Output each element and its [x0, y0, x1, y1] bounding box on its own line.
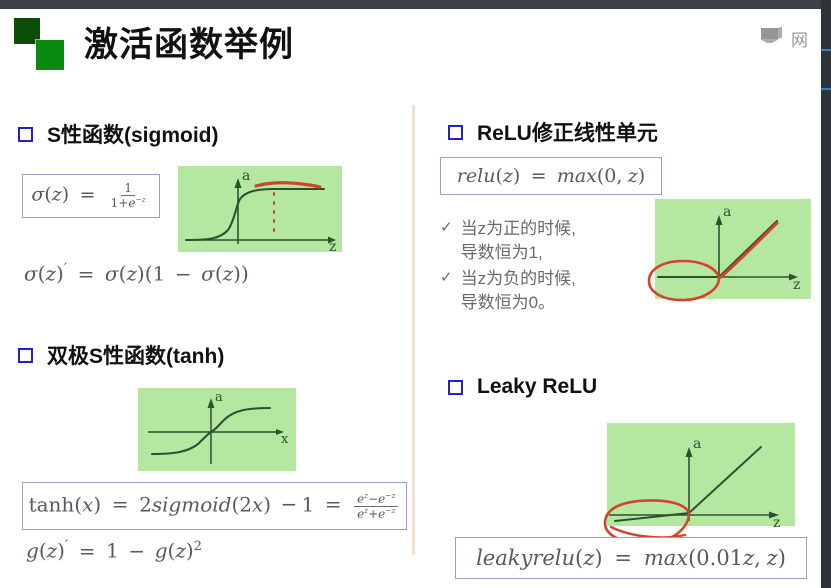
svg-text:a: a: [723, 204, 731, 220]
svg-text:a: a: [693, 436, 701, 452]
watermark: 网易: [759, 26, 807, 51]
check-icon: ✓: [440, 217, 453, 240]
svg-text:z: z: [329, 239, 336, 252]
leaky-relu-plot: a z: [607, 423, 795, 526]
leaky-relu-formula-text: leakyrelu(z) = max(0.01z, z): [476, 546, 786, 571]
section-heading-tanh: 双极S性函数(tanh): [18, 340, 224, 370]
relu-plot: a z: [655, 199, 811, 299]
check-icon: ✓: [440, 267, 453, 290]
sidebar-accent-marker-2: [821, 88, 831, 90]
page-title: 激活函数举例: [84, 17, 294, 66]
tanh-formula-text: tanh(x) = 2sigmoid(2x) −1 = ez−e−z ez+e−…: [29, 492, 401, 520]
svg-text:z: z: [793, 277, 800, 293]
list-item: ✓ 当z为正的时候, 导数恒为1,: [440, 217, 576, 265]
svg-text:z: z: [773, 515, 780, 531]
sigmoid-derivative-formula: σ(z)′ = σ(z)(1 − σ(z)): [24, 261, 249, 287]
column-divider: [412, 105, 415, 555]
slide-canvas: 激活函数举例 网易 S性函数(sigmoid) σ(z) = 1 1+e−z: [0, 9, 821, 588]
sidebar-accent-marker-1: [821, 49, 831, 51]
section-heading-leaky-relu: Leaky ReLU: [448, 375, 597, 399]
sigmoid-plot: a z: [178, 166, 342, 252]
sigmoid-formula-box: σ(z) = 1 1+e−z: [22, 174, 160, 218]
video-player-sidebar[interactable]: [821, 0, 831, 588]
relu-note-1: 当z为正的时候, 导数恒为1,: [461, 217, 576, 265]
relu-note-1-line2: 导数恒为1,: [461, 241, 576, 265]
relu-heading-label: ReLU修正线性单元: [477, 117, 658, 147]
square-bullet-icon: [448, 380, 463, 395]
tanh-derivative-formula: g(z)′ = 1 − g(z)2: [26, 538, 202, 564]
brand-logo: [14, 18, 68, 70]
watermark-text: 网易: [791, 26, 807, 51]
tanh-heading-label: 双极S性函数(tanh): [47, 340, 224, 370]
leaky-relu-formula-box: leakyrelu(z) = max(0.01z, z): [455, 537, 807, 579]
relu-note-1-line1: 当z为正的时候,: [461, 217, 576, 241]
list-item: ✓ 当z为负的时候, 导数恒为0。: [440, 267, 576, 315]
tanh-formula-box: tanh(x) = 2sigmoid(2x) −1 = ez−e−z ez+e−…: [22, 482, 407, 530]
tanh-plot: a x: [138, 388, 296, 471]
relu-notes-list: ✓ 当z为正的时候, 导数恒为1, ✓ 当z为负的时候, 导数恒为0。: [440, 217, 576, 316]
video-player-topbar: [0, 0, 831, 9]
section-heading-sigmoid: S性函数(sigmoid): [18, 119, 219, 149]
svg-text:a: a: [242, 168, 250, 184]
logo-square-light: [36, 40, 64, 70]
relu-note-2-line1: 当z为负的时候,: [461, 267, 576, 291]
svg-text:a: a: [215, 390, 223, 405]
relu-formula-text: relu(z) = max(0, z): [457, 165, 645, 188]
svg-text:x: x: [281, 432, 289, 447]
relu-formula-box: relu(z) = max(0, z): [440, 157, 662, 195]
square-bullet-icon: [18, 348, 33, 363]
leaky-relu-heading-label: Leaky ReLU: [477, 375, 597, 399]
screen-icon: [759, 26, 785, 51]
square-bullet-icon: [18, 127, 33, 142]
sigmoid-formula-text: σ(z) = 1 1+e−z: [31, 182, 150, 209]
square-bullet-icon: [448, 125, 463, 140]
relu-note-2-line2: 导数恒为0。: [461, 291, 576, 315]
section-heading-relu: ReLU修正线性单元: [448, 117, 658, 147]
sigmoid-heading-label: S性函数(sigmoid): [47, 119, 219, 149]
relu-note-2: 当z为负的时候, 导数恒为0。: [461, 267, 576, 315]
